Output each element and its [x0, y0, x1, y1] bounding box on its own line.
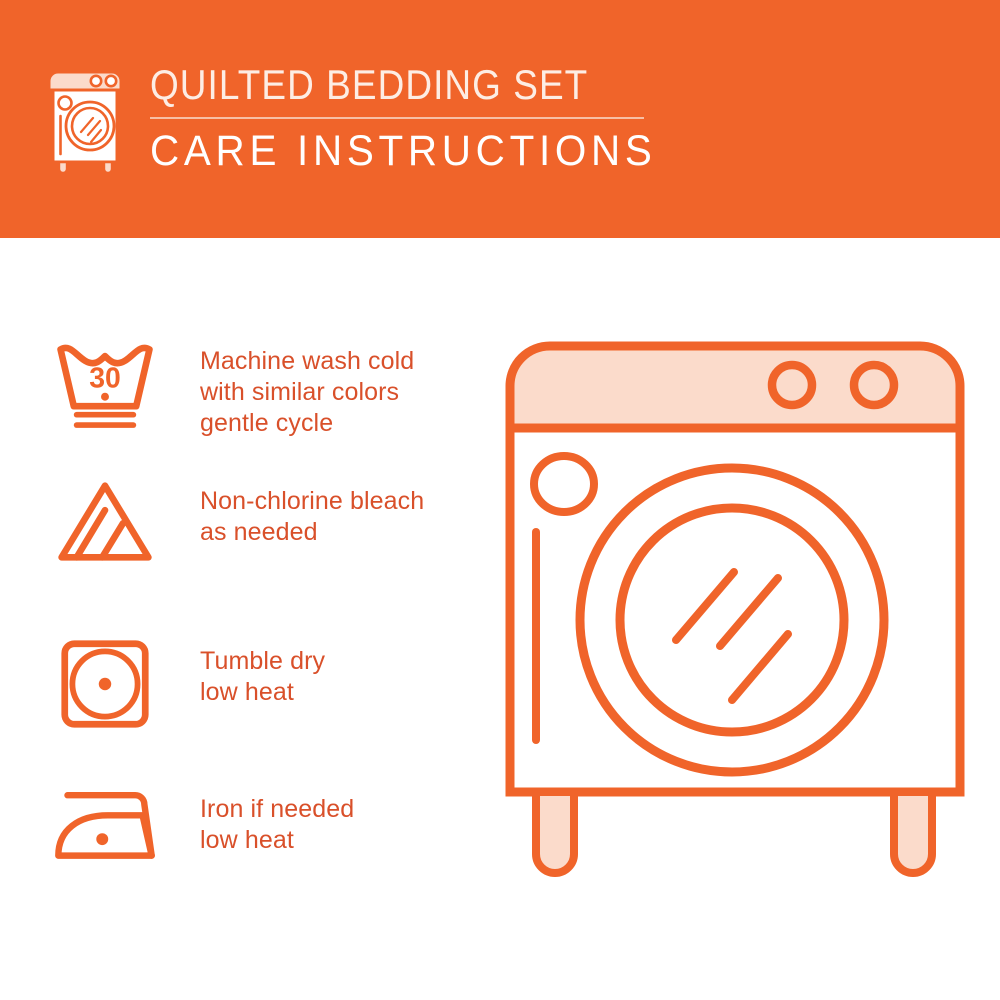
care-item-iron: Iron if needed low heat — [46, 786, 476, 863]
leg-right — [894, 792, 932, 873]
care-item-machine-wash: 30 Machine wash cold with similar colors… — [46, 338, 476, 439]
care-text-line: with similar colors — [200, 377, 414, 408]
care-text-line: Non-chlorine bleach — [200, 486, 424, 517]
care-text-line: low heat — [200, 677, 325, 708]
wash-temperature-label: 30 — [89, 362, 121, 394]
care-item-text: Machine wash cold with similar colors ge… — [200, 338, 414, 439]
non-chlorine-bleach-triangle-icon — [46, 478, 164, 565]
care-text-line: as needed — [200, 517, 424, 548]
care-item-text: Tumble dry low heat — [200, 638, 325, 708]
tumble-dry-low-heat-icon — [46, 638, 164, 730]
care-text-line: low heat — [200, 825, 354, 856]
product-title: QUILTED BEDDING SET — [150, 62, 624, 108]
care-text-line: Tumble dry — [200, 646, 325, 677]
header-content: QUILTED BEDDING SET CARE INSTRUCTIONS — [44, 62, 689, 175]
leg-left — [536, 792, 574, 873]
care-item-text: Iron if needed low heat — [200, 786, 354, 856]
care-text-line: Iron if needed — [200, 794, 354, 825]
iron-low-heat-icon — [46, 786, 164, 863]
header-titles: QUILTED BEDDING SET CARE INSTRUCTIONS — [150, 62, 689, 175]
care-text-line: Machine wash cold — [200, 346, 414, 377]
care-instruction-list: 30 Machine wash cold with similar colors… — [0, 238, 480, 1000]
care-text-line: gentle cycle — [200, 408, 414, 439]
title-divider — [150, 117, 644, 119]
knob-left — [772, 365, 812, 405]
wash-tub-30-gentle-icon: 30 — [46, 338, 164, 429]
care-item-tumble-dry: Tumble dry low heat — [46, 638, 476, 730]
knob-right — [854, 365, 894, 405]
page-title: CARE INSTRUCTIONS — [150, 127, 657, 175]
detergent-button — [534, 456, 594, 512]
header-banner: QUILTED BEDDING SET CARE INSTRUCTIONS — [0, 0, 1000, 238]
care-item-bleach: Non-chlorine bleach as needed — [46, 478, 476, 565]
care-item-text: Non-chlorine bleach as needed — [200, 478, 424, 548]
front-load-washing-machine-illustration — [480, 320, 990, 940]
washing-machine-icon — [44, 66, 130, 174]
